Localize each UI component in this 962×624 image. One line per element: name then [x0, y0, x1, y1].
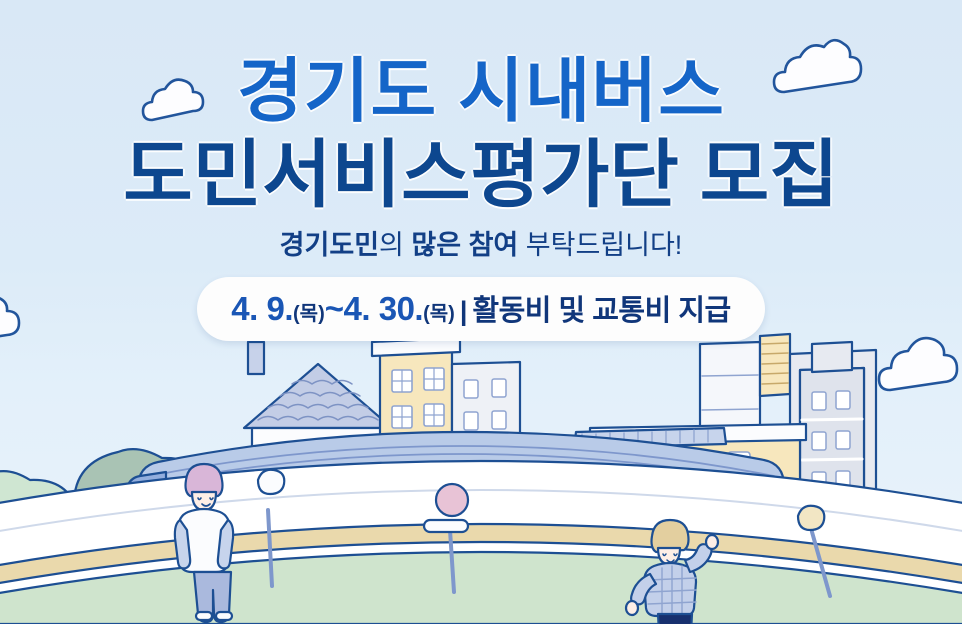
badge-benefit-text: 활동비 및 교통비 지급 [472, 295, 730, 327]
subtitle-part2: 의 [379, 230, 404, 260]
waving-pants [658, 614, 692, 624]
badge-start-day: (목) [293, 303, 325, 325]
badge-end-date: 4. 30. [344, 290, 424, 327]
subtitle-part3: 많은 참여 [404, 230, 518, 260]
badge-range-mark: ~ [325, 290, 344, 327]
student-face [192, 492, 216, 510]
sign-circle [436, 484, 468, 516]
tower-cap [812, 342, 852, 372]
waving-shirt-plaid [644, 563, 696, 616]
badge-divider: | [455, 296, 473, 326]
sign-plate [424, 520, 468, 532]
subtitle-part1: 경기도민 [280, 230, 379, 260]
roof-shingle [244, 364, 392, 428]
waving-hand [706, 535, 718, 549]
headline-block: 경기도 시내버스 도민서비스평가단 모집 경기도민의 많은 참여 부탁드립니다!… [0, 0, 962, 341]
date-badge-wrap: 4. 9.(목)~4. 30.(목)|활동비 및 교통비 지급 [0, 259, 962, 341]
page-title-line1: 경기도 시내버스 [0, 56, 962, 126]
curved-road [0, 461, 962, 624]
status-badge: 4. 9.(목)~4. 30.(목)|활동비 및 교통비 지급 [197, 277, 764, 341]
chimney [248, 342, 264, 374]
subtitle: 경기도민의 많은 참여 부탁드립니다! [0, 232, 962, 259]
city-illustration [0, 324, 962, 624]
badge-end-day: (목) [423, 303, 455, 325]
subtitle-part4: 부탁드립니다! [518, 230, 682, 260]
lamp-head [258, 470, 284, 494]
badge-start-date: 4. 9. [231, 290, 293, 327]
banner-root: 경기도 시내버스 도민서비스평가단 모집 경기도민의 많은 참여 부탁드립니다!… [0, 0, 962, 624]
page-title-line2: 도민서비스평가단 모집 [0, 138, 962, 212]
lamp-head-right [798, 506, 824, 530]
